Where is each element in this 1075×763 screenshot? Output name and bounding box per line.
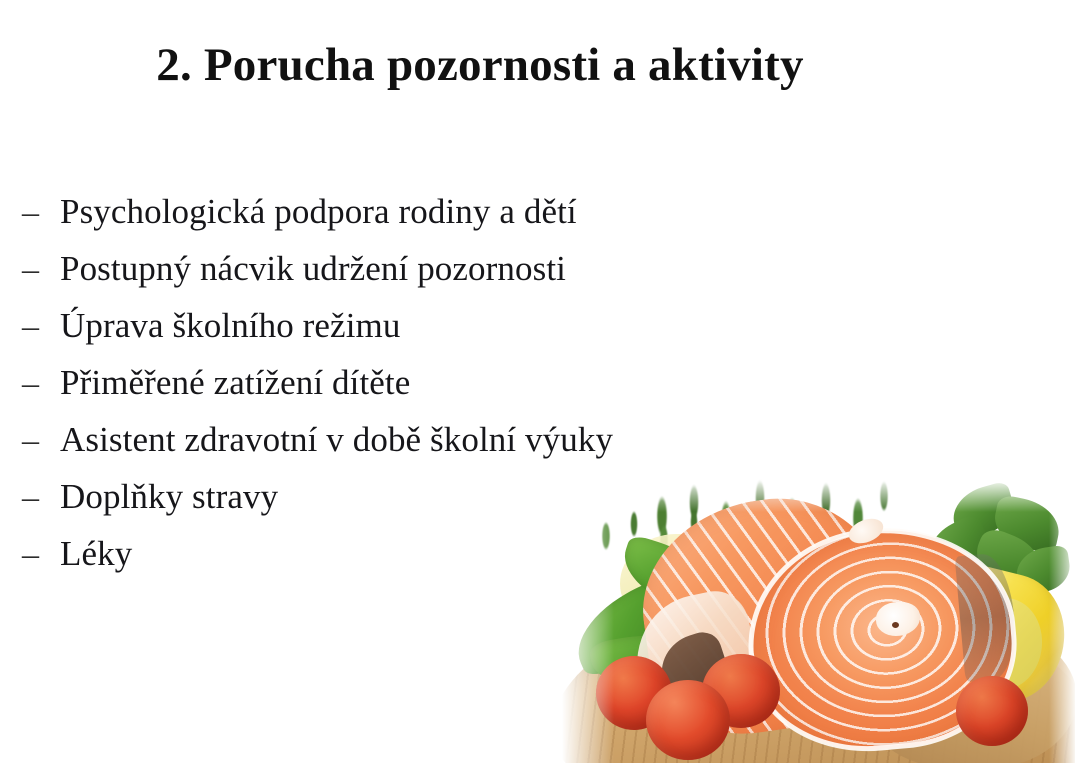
list-item: – Úprava školního režimu <box>22 297 1032 354</box>
list-item: – Postupný nácvik udržení pozornosti <box>22 240 1032 297</box>
dash-bullet-icon: – <box>22 184 60 241</box>
dash-bullet-icon: – <box>22 412 60 469</box>
salmon-speck <box>892 622 899 628</box>
list-item: – Psychologická podpora rodiny a dětí <box>22 183 1032 240</box>
dash-bullet-icon: – <box>22 298 60 355</box>
list-item-label: Přiměřené zatížení dítěte <box>60 354 410 411</box>
list-item-label: Postupný nácvik udržení pozornosti <box>60 240 566 297</box>
dash-bullet-icon: – <box>22 241 60 298</box>
dash-bullet-icon: – <box>22 355 60 412</box>
list-item-label: Psychologická podpora rodiny a dětí <box>60 183 577 240</box>
dash-bullet-icon: – <box>22 526 60 583</box>
list-item: – Asistent zdravotní v době školní výuky <box>22 411 1032 468</box>
list-item: – Přiměřené zatížení dítěte <box>22 354 1032 411</box>
list-item-label: Léky <box>60 525 132 582</box>
presentation-slide: 2. Porucha pozornosti a aktivity – Psych… <box>0 0 1075 763</box>
list-item-label: Úprava školního režimu <box>60 297 400 354</box>
list-item-label: Doplňky stravy <box>60 468 278 525</box>
cherry-tomato <box>956 676 1028 746</box>
cherry-tomato <box>646 680 730 760</box>
list-item-label: Asistent zdravotní v době školní výuky <box>60 411 613 468</box>
salmon-steaks-photo <box>562 478 1075 763</box>
page-title: 2. Porucha pozornosti a aktivity <box>0 36 960 94</box>
dash-bullet-icon: – <box>22 469 60 526</box>
